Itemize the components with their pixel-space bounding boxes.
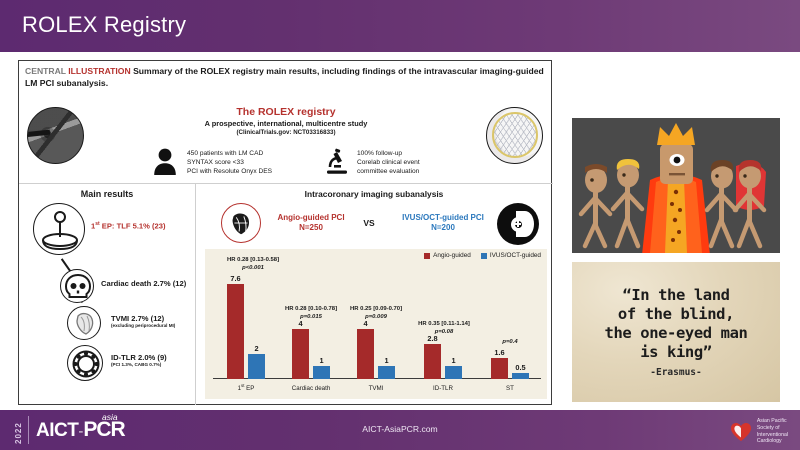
annotation-p-3: p=0.08 [435, 329, 454, 335]
caption-prefix: CENTRAL [25, 66, 66, 76]
fact-patients-line-3: PCI with Resolute Onyx DES [187, 167, 272, 176]
bar-ivus-4: 0.5 [512, 373, 529, 379]
coronary-heart-icon [221, 203, 261, 243]
arm-ivus-line1: IVUS/OCT-guided PCI [391, 213, 495, 223]
result-label-cardiac-death: Cardiac death 2.7% (12) [101, 279, 186, 288]
annotation-hr-0: HR 0.28 [0.13-0.58] [209, 257, 297, 265]
fact-patients: 450 patients with LM CAD SYNTAX score <3… [187, 149, 272, 176]
bar-angio-3: 2.8 [424, 344, 441, 379]
skull-icon [60, 269, 94, 303]
stent-ring-icon [67, 345, 103, 381]
bar-ivus-1: 1 [313, 366, 330, 379]
quote-line-1: “In the land [605, 286, 748, 305]
annotation-p-2: p=0.009 [365, 314, 387, 320]
bar-group-4: 1.6 0.5 ST [479, 358, 541, 379]
bar-angio-1: 4 [292, 329, 309, 379]
bar-value-ivus-4: 0.5 [515, 363, 525, 372]
outcomes-bar-chart: Angio-guided IVUS/OCT-guided 7.6 2 [205, 249, 547, 399]
one-eyed-king-illustration [572, 118, 780, 253]
bar-group-1: 4 1 Cardiac death [280, 329, 342, 379]
annotation-4: p=0.4 [475, 339, 545, 347]
annotation-p-0: p<0.001 [242, 265, 264, 271]
annotation-hr-2: HR 0.25 [0.09-0.70] [333, 306, 419, 314]
divider-horizontal [19, 183, 553, 184]
annotation-0: HR 0.28 [0.13-0.58] p<0.001 [209, 257, 297, 272]
heart-logo-icon [730, 422, 752, 442]
result-label-tvmi-sub: (excluding periprocedural MI) [111, 323, 175, 328]
legend-swatch-ivus [481, 253, 487, 259]
bar-angio-2: 4 [357, 329, 374, 379]
page-title: ROLEX Registry [22, 12, 186, 38]
x-tick-label-4: ST [506, 385, 514, 392]
fact-followup-line-1: 100% follow-up [357, 149, 420, 158]
annotation-hr-3: HR 0.35 [0.11-1.14] [401, 321, 487, 329]
fact-patients-line-2: SYNTAX score <33 [187, 158, 272, 167]
x-tick-label-2: TVMI [369, 385, 384, 392]
legend-item-angio: Angio-guided [424, 252, 471, 259]
result-label-idtlr-sub: (PCI 1.3%, CABG 0.7%) [111, 362, 167, 367]
ivus-oct-image-icon [497, 203, 539, 245]
legend-swatch-angio [424, 253, 430, 259]
apsic-society-text: Asian Pacific Society of Interventional … [757, 418, 788, 445]
result-label-idtlr-main: ID-TLR 2.0% (9) [111, 353, 167, 362]
result-label-tvmi-main: TVMI 2.7% (12) [111, 314, 164, 323]
heart-icon [67, 306, 101, 340]
logo-asia-text: asia [102, 412, 118, 422]
annotation-p-1: p=0.015 [300, 314, 322, 320]
bar-ivus-3: 1 [445, 366, 462, 379]
fact-followup: 100% follow-up Corelab clinical event co… [357, 149, 420, 176]
x-tick-label-1: Cardiac death [292, 385, 331, 392]
arm-angio-line2: N=250 [265, 223, 357, 233]
bar-value-angio-0: 7.6 [230, 274, 240, 283]
main-results-title: Main results [19, 189, 195, 199]
bar-value-ivus-2: 1 [384, 356, 388, 365]
arm-vs-label: VS [349, 218, 389, 229]
bar-group-2: 4 1 TVMI [345, 329, 407, 379]
apsic-line-2: Society of [757, 425, 788, 432]
divider-vertical [195, 183, 196, 405]
bar-value-ivus-3: 1 [451, 356, 455, 365]
x-tick-label-0: 1st EP [238, 383, 255, 392]
bar-value-ivus-1: 1 [319, 356, 323, 365]
x-tick-label-3: ID-TLR [433, 385, 453, 392]
target-pin-icon [33, 203, 85, 255]
slide: ROLEX Registry CENTRAL ILLUSTRATION Summ… [0, 0, 800, 450]
study-title: The ROLEX registry [19, 106, 553, 118]
apsic-society-logo: Asian Pacific Society of Interventional … [730, 418, 788, 445]
bar-ivus-2: 1 [378, 366, 395, 379]
caption-strong: ILLUSTRATION [68, 66, 130, 76]
annotation-p-4: p=0.4 [502, 339, 517, 345]
apsic-line-1: Asian Pacific [757, 418, 788, 425]
legend-label-angio: Angio-guided [433, 252, 471, 259]
quote-line-4: is king” [605, 343, 748, 362]
bar-angio-0: 7.6 [227, 284, 244, 379]
bar-value-angio-4: 1.6 [494, 348, 504, 357]
quote-line-3: the one-eyed man [605, 324, 748, 343]
chart-legend: Angio-guided IVUS/OCT-guided [424, 252, 541, 259]
arm-angio-line1: Angio-guided PCI [265, 213, 357, 223]
legend-label-ivus: IVUS/OCT-guided [490, 252, 541, 259]
central-illustration-panel: CENTRAL ILLUSTRATION Summary of the ROLE… [18, 60, 552, 405]
subanalysis-title: Intracoronary imaging subanalysis [195, 189, 553, 199]
result-label-tlf: 1st EP: TLF 5.1% (23) [91, 221, 166, 231]
arm-ivus-line2: N=200 [391, 223, 495, 233]
legend-item-ivus: IVUS/OCT-guided [481, 252, 541, 259]
slide-header: ROLEX Registry [0, 0, 800, 52]
arm-label-angio: Angio-guided PCI N=250 [265, 213, 357, 233]
footer-website[interactable]: AICT-AsiaPCR.com [0, 424, 800, 434]
result-label-idtlr: ID-TLR 2.0% (9) (PCI 1.3%, CABG 0.7%) [111, 353, 167, 367]
annotation-3: HR 0.35 [0.11-1.14] p=0.08 [401, 321, 487, 336]
microscope-icon [324, 147, 350, 175]
study-subtitle: A prospective, international, multicentr… [19, 119, 553, 128]
slide-footer: 2022 AICT-PCR asia AICT-AsiaPCR.com Asia… [0, 410, 800, 450]
central-illustration-caption: CENTRAL ILLUSTRATION Summary of the ROLE… [25, 66, 547, 89]
bar-ivus-0: 2 [248, 354, 265, 379]
result-label-tlf-post: EP: TLF 5.1% (23) [100, 222, 166, 231]
annotation-2: HR 0.25 [0.09-0.70] p=0.009 [333, 306, 419, 321]
study-registration: (ClinicalTrials.gov: NCT03316833) [19, 129, 553, 136]
erasmus-quote-card: “In the land of the blind, the one-eyed … [572, 262, 780, 402]
fact-followup-line-2: Corelab clinical event [357, 158, 420, 167]
fact-followup-line-3: committee evaluation [357, 167, 420, 176]
quote-text: “In the land of the blind, the one-eyed … [605, 286, 748, 362]
quote-author: -Erasmus- [650, 367, 701, 378]
bar-group-0: 7.6 2 1st EP [215, 284, 277, 379]
arm-label-ivus: IVUS/OCT-guided PCI N=200 [391, 213, 495, 233]
apsic-line-4: Cardiology [757, 438, 788, 445]
bar-value-ivus-0: 2 [254, 344, 258, 353]
person-icon [152, 147, 178, 175]
chart-plot-area: 7.6 2 1st EP HR 0.28 [0.13-0.58] p<0.001… [213, 265, 541, 379]
bar-group-3: 2.8 1 ID-TLR [412, 344, 474, 379]
result-label-tvmi: TVMI 2.7% (12) (excluding periprocedural… [111, 314, 175, 328]
fact-patients-line-1: 450 patients with LM CAD [187, 149, 272, 158]
quote-line-2: of the blind, [605, 305, 748, 324]
ivus-core-icon [515, 221, 522, 228]
apsic-line-3: Interventional [757, 432, 788, 439]
bar-angio-4: 1.6 [491, 358, 508, 379]
